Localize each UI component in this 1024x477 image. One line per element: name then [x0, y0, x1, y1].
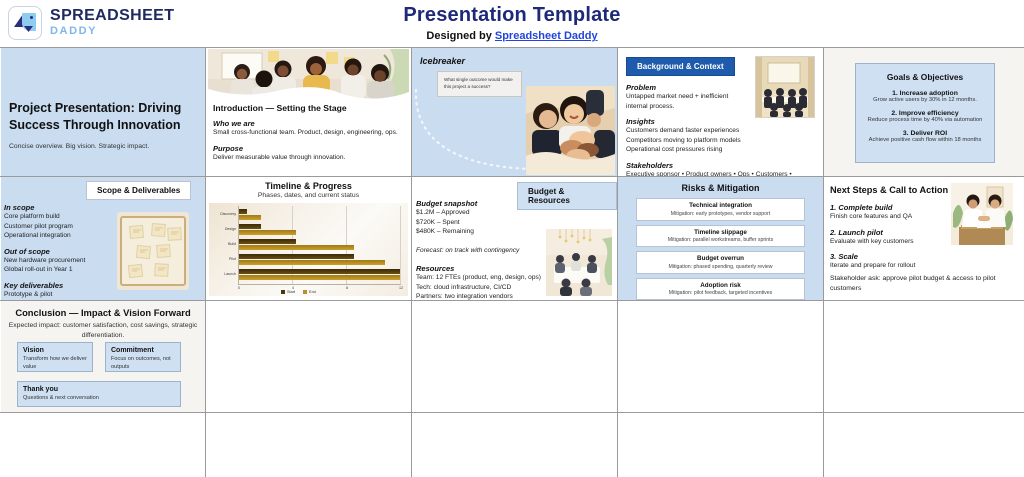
slide-timeline-progress[interactable]: Timeline & Progress Phases, dates, and c… — [206, 177, 411, 300]
stakeholders-text: Executive sponsor • Product owners • Ops… — [626, 170, 815, 176]
commitment-text: Focus on outcomes, not outputs — [111, 356, 175, 372]
in-scope-item: Operational integration — [4, 231, 112, 241]
goal-detail: Grow active users by 30% in 12 months. — [864, 97, 986, 103]
risk-title: Adoption risk — [641, 282, 800, 289]
team-table-illustration — [546, 229, 612, 296]
empty-cell[interactable] — [412, 413, 617, 477]
boardroom-illustration — [755, 56, 815, 118]
key-deliverable-item: Beta release — [4, 299, 112, 300]
chart-bar-start — [239, 239, 296, 244]
title-slide-subheading: Concise overview. Big vision. Strategic … — [9, 143, 197, 150]
problem-text: Untapped market need + inefficient inter… — [626, 92, 751, 111]
background-context-chip: Background & Context — [626, 57, 735, 76]
chart-xtick-label: 0 — [229, 286, 249, 290]
conclusion-subheading: Expected impact: customer satisfaction, … — [7, 321, 199, 341]
slide-risks-mitigation[interactable]: Risks & Mitigation Technical integration… — [618, 177, 823, 300]
out-scope-item: New hardware procurement — [4, 256, 112, 266]
header-title-block: Presentation Template Designed by Spread… — [0, 4, 1024, 42]
next-steps-heading: Next Steps & Call to Action — [830, 185, 950, 195]
next-step-title: 1. Complete build — [830, 203, 950, 212]
chart-category-label: Design — [209, 227, 236, 231]
problem-label: Problem — [626, 83, 751, 92]
commitment-title: Commitment — [111, 347, 175, 354]
risk-card[interactable]: Technical integration Mitigation: early … — [636, 198, 805, 221]
risk-mitigation: Mitigation: phased spending, quarterly r… — [641, 264, 800, 270]
goal-title: 1. Increase adoption — [864, 90, 986, 97]
thanks-title: Thank you — [23, 386, 175, 393]
budget-snapshot-label: Budget snapshot — [416, 199, 551, 208]
empty-cell[interactable] — [412, 301, 617, 412]
risk-card[interactable]: Budget overrun Mitigation: phased spendi… — [636, 251, 805, 274]
empty-cell[interactable] — [824, 301, 1024, 412]
empty-cell[interactable] — [618, 413, 823, 477]
in-scope-item: Customer pilot program — [4, 222, 112, 232]
risk-mitigation: Mitigation: pilot feedback, targeted inc… — [641, 290, 800, 296]
chart-bar-end — [239, 245, 354, 250]
slide-goals-objectives[interactable]: Goals & Objectives 1. Increase adoption … — [824, 48, 1024, 176]
empty-cell[interactable] — [206, 413, 411, 477]
presentation-canvas: SPREADSHEET DADDY Presentation Template … — [0, 0, 1024, 477]
next-step-detail: Iterate and prepare for rollout — [830, 261, 950, 271]
chart-gridline — [400, 206, 401, 284]
chart-xtick-label: 12 — [391, 286, 411, 290]
slide-introduction[interactable]: Introduction — Setting the Stage Who we … — [206, 48, 411, 176]
introduction-who-label: Who we are — [213, 119, 405, 128]
vision-text: Transform how we deliver value — [23, 356, 87, 372]
empty-cell[interactable] — [618, 301, 823, 412]
budget-snapshot-item: $720K – Spent — [416, 218, 551, 228]
out-scope-item: Global roll-out in Year 1 — [4, 265, 112, 275]
chart-subtitle: Phases, dates, and current status — [206, 192, 411, 199]
risk-card[interactable]: Adoption risk Mitigation: pilot feedback… — [636, 278, 805, 301]
slide-next-steps[interactable]: Next Steps & Call to Action 1. Complete … — [824, 177, 1024, 300]
legend-entry-start: Start — [281, 290, 295, 294]
dotted-arc-decoration — [412, 86, 536, 176]
chart-category-label: Build — [209, 242, 236, 246]
chart-title: Timeline & Progress — [206, 181, 411, 191]
slide-budget-resources[interactable]: Budget & Resources Budget snapshot $1.2M… — [412, 177, 617, 300]
slide-icebreaker[interactable]: Icebreaker What single outcome would mak… — [412, 48, 617, 176]
insights-text-2: Competitors moving to platform models — [626, 136, 751, 146]
resources-label: Resources — [416, 264, 551, 273]
goals-heading: Goals & Objectives — [864, 72, 986, 82]
chart-x-axis — [238, 284, 401, 285]
conclusion-heading: Conclusion — Impact & Vision Forward — [7, 307, 199, 318]
chart-bar-end — [239, 260, 385, 265]
conclusion-card-vision[interactable]: Vision Transform how we deliver value — [17, 342, 93, 372]
slide-background-context[interactable]: Background & Context Problem Untapped ma… — [618, 48, 823, 176]
conclusion-card-commitment[interactable]: Commitment Focus on outcomes, not output… — [105, 342, 181, 372]
chart-bar-start — [239, 269, 400, 274]
icebreaker-question-text: What single outcome would make this proj… — [444, 77, 515, 91]
chart-bar-start — [239, 209, 247, 214]
page-title: Presentation Template — [0, 4, 1024, 27]
icebreaker-question-note: What single outcome would make this proj… — [437, 71, 522, 97]
hands-together-illustration — [526, 86, 615, 175]
risk-mitigation: Mitigation: early prototypes, vendor sup… — [641, 211, 800, 217]
handshake-illustration — [951, 183, 1013, 245]
budget-snapshot-item: $1.2M – Approved — [416, 208, 551, 218]
empty-cell[interactable] — [824, 413, 1024, 477]
resources-item: Team: 12 FTEs (product, eng, design, ops… — [416, 273, 551, 283]
sticky-notes-board-illustration — [117, 212, 189, 290]
empty-cell[interactable] — [206, 301, 411, 412]
chart-bar-start — [239, 224, 261, 229]
out-scope-label: Out of scope — [4, 247, 112, 256]
legend-entry-end: End — [303, 290, 316, 294]
budget-snapshot-item: $480K – Remaining — [416, 227, 551, 237]
spreadsheet-daddy-link[interactable]: Spreadsheet Daddy — [495, 30, 598, 42]
in-scope-item: Core platform build — [4, 212, 112, 222]
page-header: SPREADSHEET DADDY Presentation Template … — [0, 0, 1024, 47]
thanks-text: Questions & next conversation — [23, 395, 175, 403]
chart-bar-start — [239, 254, 354, 259]
introduction-purpose-text: Deliver measurable value through innovat… — [213, 153, 405, 163]
slide-scope-deliverables[interactable]: Scope & Deliverables In scope Core platf… — [1, 177, 205, 300]
next-step-detail: Evaluate with key customers — [830, 237, 950, 247]
resources-item: Partners: two integration vendors — [416, 292, 551, 300]
slide-conclusion[interactable]: Conclusion — Impact & Vision Forward Exp… — [1, 301, 205, 412]
goal-title: 3. Deliver ROI — [864, 130, 986, 137]
budget-forecast-text: Forecast: on track with contingency — [416, 246, 551, 256]
insights-text-3: Operational cost pressures rising — [626, 145, 751, 155]
page-subtitle: Designed by Spreadsheet Daddy — [0, 30, 1024, 42]
stakeholder-ask-text: Stakeholder ask: approve pilot budget & … — [830, 274, 1012, 294]
icebreaker-heading: Icebreaker — [420, 56, 465, 66]
chart-bar-end — [239, 230, 296, 235]
risk-mitigation: Mitigation: parallel workstreams, buffer… — [641, 237, 800, 243]
goals-card: Goals & Objectives 1. Increase adoption … — [855, 63, 995, 163]
risk-title: Technical integration — [641, 202, 800, 209]
in-scope-label: In scope — [4, 203, 112, 212]
risks-heading: Risks & Mitigation — [636, 183, 805, 193]
risk-card[interactable]: Timeline slippage Mitigation: parallel w… — [636, 225, 805, 248]
title-slide-heading: Project Presentation: Driving Success Th… — [9, 100, 197, 134]
chart-category-label: Launch — [209, 272, 236, 276]
chart-category-label: Discovery — [209, 212, 236, 216]
next-step-title: 3. Scale — [830, 252, 950, 261]
goal-detail: Reduce process time by 40% via automatio… — [864, 117, 986, 123]
introduction-heading: Introduction — Setting the Stage — [213, 103, 405, 113]
goal-title: 2. Improve efficiency — [864, 110, 986, 117]
chart-bar-end — [239, 215, 261, 220]
risk-title: Timeline slippage — [641, 229, 800, 236]
chart-xtick-label: 8 — [337, 286, 357, 290]
empty-cell[interactable] — [1, 413, 205, 477]
stakeholders-label: Stakeholders — [626, 161, 815, 170]
next-step-title: 2. Launch pilot — [830, 228, 950, 237]
insights-label: Insights — [626, 117, 751, 126]
slide-grid: Project Presentation: Driving Success Th… — [0, 47, 1024, 477]
risk-title: Budget overrun — [641, 255, 800, 262]
key-deliverables-label: Key deliverables — [4, 281, 112, 290]
slide-title-slide[interactable]: Project Presentation: Driving Success Th… — [1, 48, 205, 176]
introduction-who-text: Small cross-functional team. Product, de… — [213, 128, 405, 138]
insights-text-1: Customers demand faster experiences — [626, 126, 751, 136]
timeline-bar-chart[interactable]: Discovery Design Build Pilot Launch — [209, 203, 408, 296]
chart-category-label: Pilot — [209, 257, 236, 261]
next-step-detail: Finish core features and QA — [830, 212, 950, 222]
vision-title: Vision — [23, 347, 87, 354]
goal-detail: Achieve positive cash flow within 18 mon… — [864, 137, 986, 143]
designed-by-label: Designed by — [426, 30, 494, 42]
key-deliverable-item: Prototype & pilot — [4, 290, 112, 300]
conclusion-card-thanks[interactable]: Thank you Questions & next conversation — [17, 381, 181, 407]
team-meeting-illustration — [208, 49, 409, 99]
chart-legend: Start End — [281, 290, 316, 294]
resources-item: Tech: cloud infrastructure, CI/CD — [416, 283, 551, 293]
chart-bar-end — [239, 275, 400, 280]
introduction-purpose-label: Purpose — [213, 144, 405, 153]
